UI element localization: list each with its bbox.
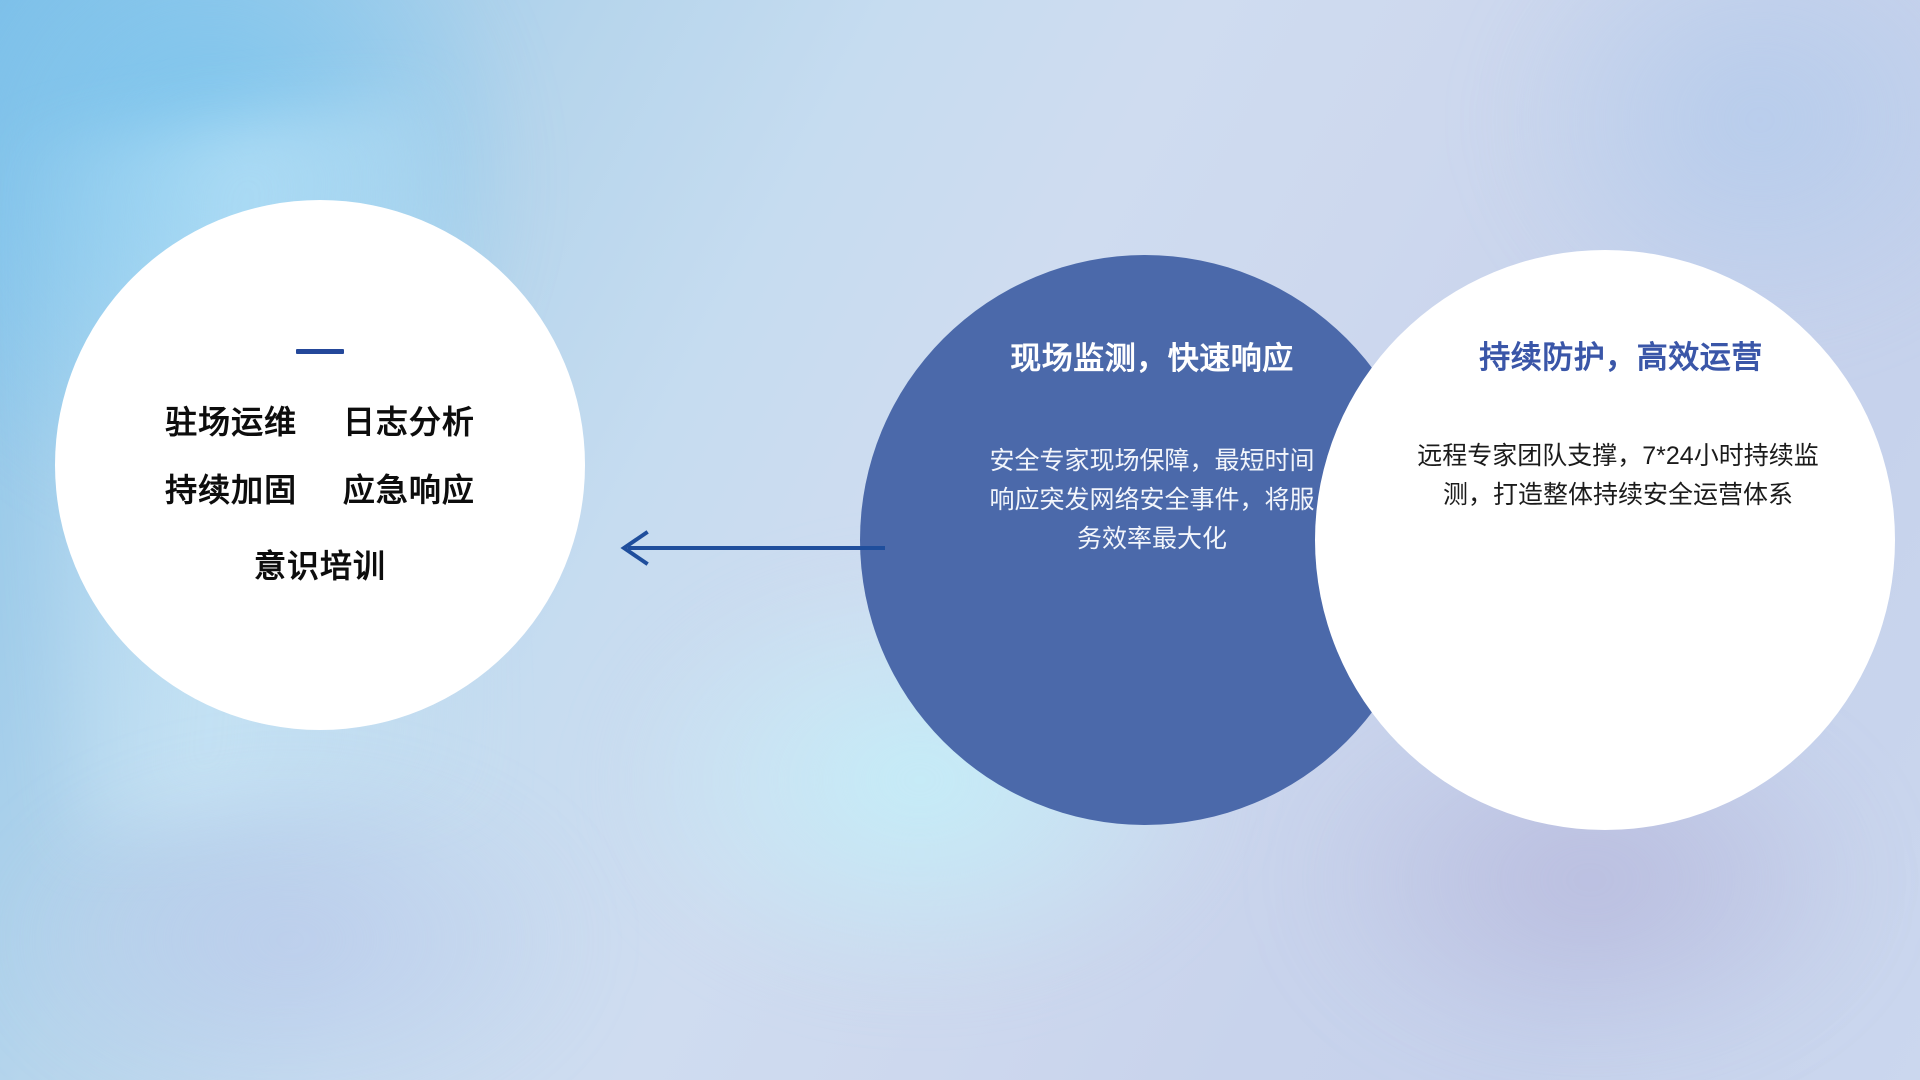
- capability-label: 意识培训: [254, 548, 386, 584]
- capability-row: 持续加固 应急响应: [165, 474, 475, 506]
- capability-row: 意识培训: [254, 550, 386, 582]
- slide-canvas: 驻场运维 日志分析 持续加固 应急响应 意识培训 现: [0, 0, 1920, 1080]
- background-glow-bottom-left: [0, 700, 700, 1080]
- arrow-left-icon: [600, 520, 890, 576]
- continuous-protection-content: 持续防护，高效运营 远程专家团队支撑，7*24小时持续监测，打造整体持续安全运营…: [1315, 250, 1895, 830]
- capability-label: 驻场运维: [165, 404, 297, 440]
- capability-label: 持续加固: [165, 472, 297, 508]
- divider-dash-icon: [296, 349, 344, 354]
- capabilities-circle[interactable]: 驻场运维 日志分析 持续加固 应急响应 意识培训: [55, 200, 585, 730]
- capabilities-content: 驻场运维 日志分析 持续加固 应急响应 意识培训: [55, 200, 585, 730]
- continuous-protection-circle[interactable]: 持续防护，高效运营 远程专家团队支撑，7*24小时持续监测，打造整体持续安全运营…: [1315, 250, 1895, 830]
- capability-label: 日志分析: [343, 404, 475, 440]
- onsite-monitoring-title: 现场监测，快速响应: [1010, 333, 1294, 378]
- capabilities-list: 驻场运维 日志分析 持续加固 应急响应 意识培训: [165, 406, 475, 582]
- continuous-protection-body: 远程专家团队支撑，7*24小时持续监测，打造整体持续安全运营体系: [1398, 437, 1838, 515]
- onsite-monitoring-body: 安全专家现场保障，最短时间响应突发网络安全事件，将服务效率最大化: [987, 442, 1317, 558]
- connector-arrow: [600, 520, 890, 576]
- capability-label: 应急响应: [343, 472, 475, 508]
- continuous-protection-title: 持续防护，高效运营: [1479, 332, 1763, 377]
- capability-row: 驻场运维 日志分析: [165, 406, 475, 438]
